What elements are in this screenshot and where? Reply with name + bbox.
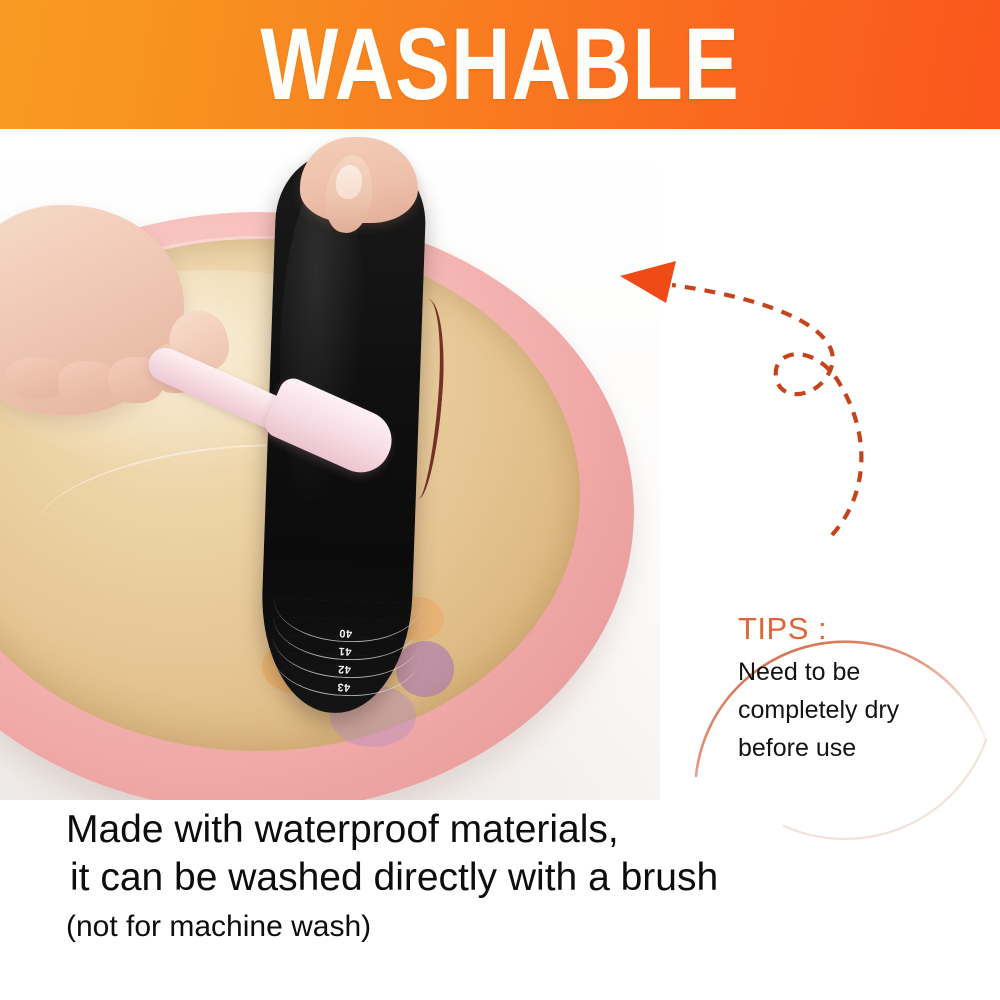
- caption-line-2: it can be washed directly with a brush: [70, 854, 946, 902]
- tips-title: TIPS :: [738, 612, 827, 646]
- curved-dashed-arrow: [600, 245, 890, 575]
- header-banner: WASHABLE: [0, 0, 1000, 129]
- size-label-42: 42: [337, 663, 351, 675]
- insole-size-guide: 40 41 42 43: [270, 596, 422, 721]
- size-label-41: 41: [338, 645, 352, 657]
- product-marketing-image: WASHABLE 40 41 42 43: [0, 0, 1000, 1000]
- tips-line-3: before use: [738, 734, 856, 763]
- tips-line-2: completely dry: [738, 696, 899, 725]
- product-photo: 40 41 42 43: [0, 129, 660, 800]
- caption-line-1: Made with waterproof materials,: [66, 806, 946, 854]
- size-label-40: 40: [339, 627, 353, 639]
- caption-line-3: (not for machine wash): [66, 906, 946, 948]
- tips-callout: TIPS : Need to be completely dry before …: [690, 540, 1000, 840]
- size-label-43: 43: [337, 681, 351, 693]
- tips-line-1: Need to be: [738, 658, 860, 687]
- tips-circle-arc: [690, 540, 1000, 840]
- caption-block: Made with waterproof materials, it can b…: [66, 806, 946, 948]
- banner-title: WASHABLE: [70, 14, 930, 116]
